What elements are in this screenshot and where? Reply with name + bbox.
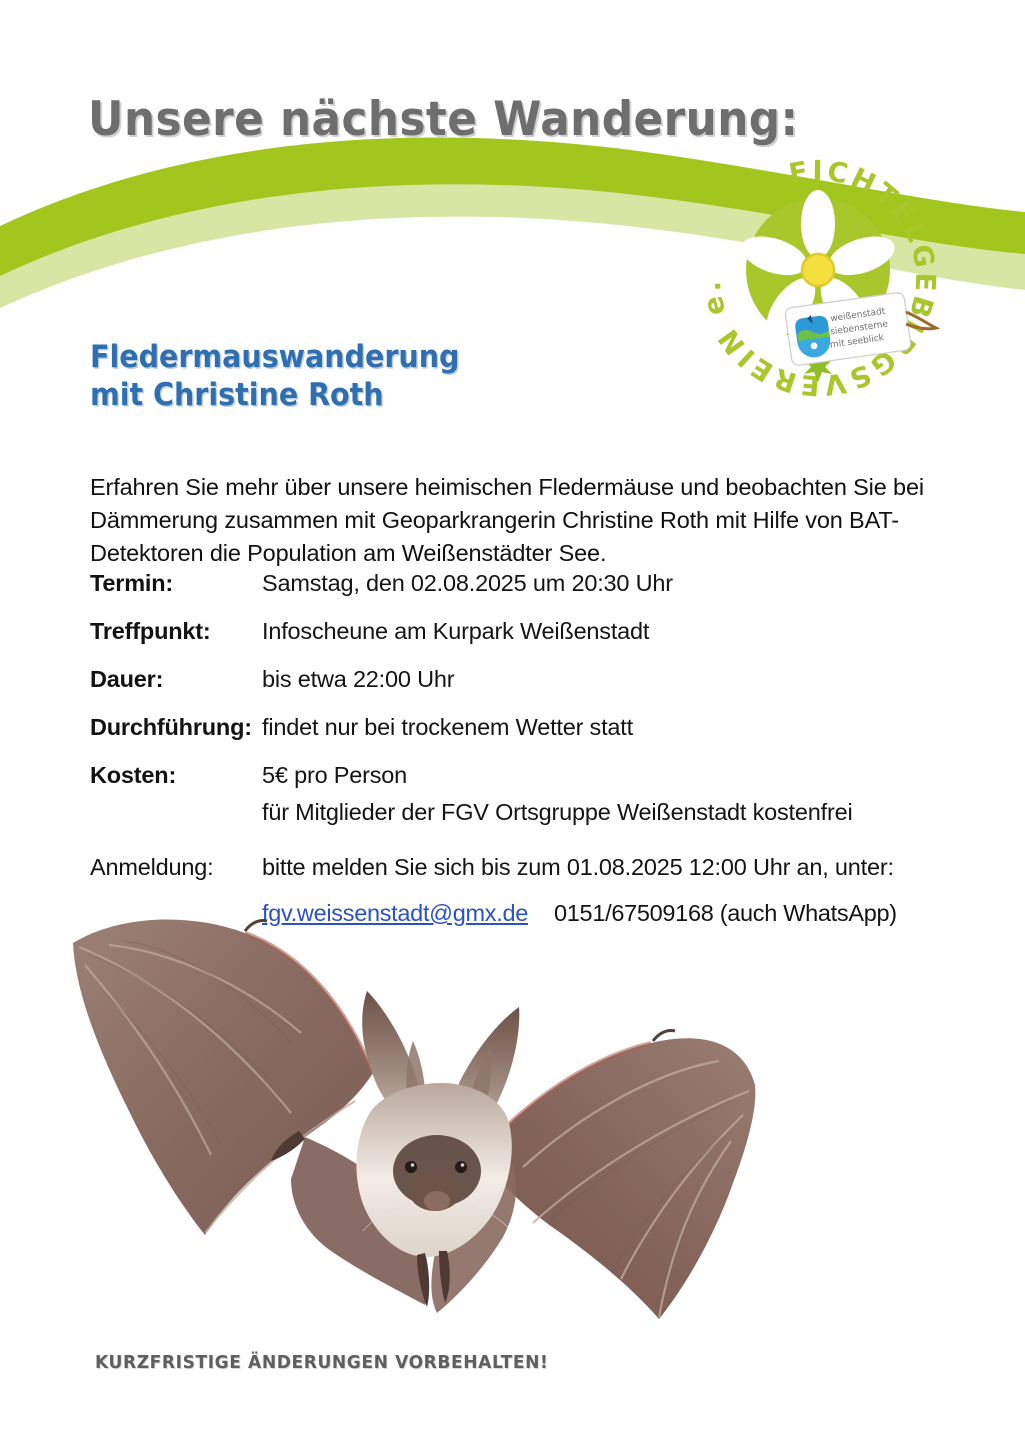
detail-row-termin: Termin: Samstag, den 02.08.2025 um 20:30… — [90, 568, 970, 599]
detail-value: findet nur bei trockenem Wetter statt — [262, 712, 633, 743]
intro-paragraph: Erfahren Sie mehr über unsere heimischen… — [90, 471, 970, 570]
detail-value-secondary: für Mitglieder der FGV Ortsgruppe Weißen… — [262, 797, 852, 828]
flower-center — [802, 254, 834, 286]
detail-label: Termin: — [90, 568, 262, 599]
detail-row-kosten: Kosten: 5€ pro Person für Mitglieder der… — [90, 760, 970, 828]
detail-row-dauer: Dauer: bis etwa 22:00 Uhr — [90, 664, 970, 695]
detail-row-durchfuehrung: Durchführung: findet nur bei trockenem W… — [90, 712, 970, 743]
detail-value: bis etwa 22:00 Uhr — [262, 664, 454, 695]
detail-value: 5€ pro Person für Mitglieder der FGV Ort… — [262, 760, 852, 828]
detail-label: Durchführung: — [90, 712, 262, 743]
detail-label: Dauer: — [90, 664, 262, 695]
poster-header: Unsere nächste Wanderung: FICHTELGEBIRGS… — [0, 0, 1025, 330]
detail-row-anmeldung: Anmeldung: bitte melden Sie sich bis zum… — [90, 852, 970, 883]
detail-value: Infoscheune am Kurpark Weißenstadt — [262, 616, 649, 647]
detail-value: bitte melden Sie sich bis zum 01.08.2025… — [262, 852, 894, 883]
poster: Unsere nächste Wanderung: FICHTELGEBIRGS… — [0, 0, 1025, 1450]
disclaimer-footer: KURZFRISTIGE ÄNDERUNGEN VORBEHALTEN! — [95, 1352, 548, 1373]
bat-photo — [55, 905, 775, 1330]
page-title: Unsere nächste Wanderung: — [88, 92, 799, 147]
event-details: Termin: Samstag, den 02.08.2025 um 20:30… — [90, 568, 970, 900]
bat-right-wing — [479, 1038, 755, 1319]
detail-label: Treffpunkt: — [90, 616, 262, 647]
detail-label: Kosten: — [90, 760, 262, 791]
detail-row-treffpunkt: Treffpunkt: Infoscheune am Kurpark Weiße… — [90, 616, 970, 647]
event-title-line1: Fledermauswanderung — [90, 339, 459, 375]
fichtelgebirgsverein-logo: FICHTELGEBIRGSVEREIN e.V. — [692, 152, 944, 404]
detail-value: Samstag, den 02.08.2025 um 20:30 Uhr — [262, 568, 673, 599]
event-title: Fledermauswanderung mit Christine Roth — [90, 338, 459, 414]
event-title-line2: mit Christine Roth — [90, 376, 459, 414]
detail-label: Anmeldung: — [90, 852, 262, 883]
detail-value-primary: 5€ pro Person — [262, 762, 407, 788]
